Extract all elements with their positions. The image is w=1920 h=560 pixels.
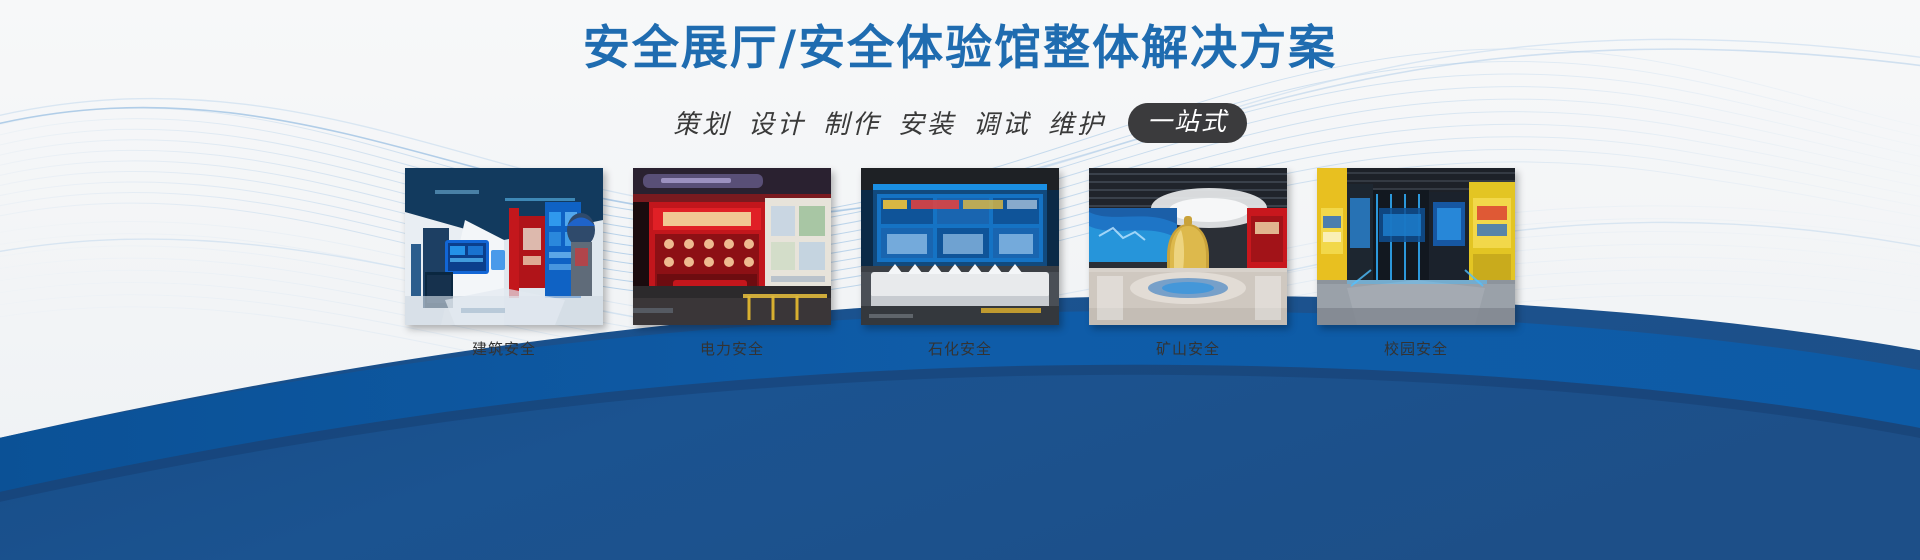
service-step-3: 制作 <box>823 104 881 141</box>
service-step-6: 维护 <box>1048 104 1106 141</box>
banner-title-area: 安全展厅/安全体验馆整体解决方案 <box>0 22 1920 76</box>
gallery-item-5[interactable]: 校园安全 <box>1317 168 1515 359</box>
thumbnail-construction-safety[interactable] <box>405 168 603 325</box>
service-step-1: 策划 <box>673 104 731 141</box>
service-step-5: 调试 <box>973 104 1031 141</box>
gallery-caption-3: 石化安全 <box>861 338 1059 359</box>
gallery-caption-2: 电力安全 <box>633 338 831 359</box>
promo-banner: 安全展厅/安全体验馆整体解决方案 策划 设计 制作 安装 调试 维护 一站式 <box>0 0 1920 560</box>
thumbnail-petrochemical-safety[interactable] <box>861 168 1059 325</box>
gallery-item-1[interactable]: 建筑安全 <box>405 168 603 359</box>
thumbnail-mine-safety[interactable] <box>1089 168 1287 325</box>
service-step-4: 安装 <box>898 104 956 141</box>
gallery-item-4[interactable]: 矿山安全 <box>1089 168 1287 359</box>
gallery-caption-5: 校园安全 <box>1317 338 1515 359</box>
service-step-2: 设计 <box>748 104 806 141</box>
page-title: 安全展厅/安全体验馆整体解决方案 <box>0 22 1920 76</box>
gallery-caption-4: 矿山安全 <box>1089 338 1287 359</box>
thumbnail-campus-safety[interactable] <box>1317 168 1515 325</box>
scene-gallery: 建筑安全 <box>0 168 1920 359</box>
gallery-item-3[interactable]: 石化安全 <box>861 168 1059 359</box>
thumbnail-electric-power-safety[interactable] <box>633 168 831 325</box>
service-steps-list: 策划 设计 制作 安装 调试 维护 一站式 <box>0 103 1920 143</box>
one-stop-badge: 一站式 <box>1128 103 1247 143</box>
gallery-caption-1: 建筑安全 <box>405 338 603 359</box>
gallery-item-2[interactable]: 电力安全 <box>633 168 831 359</box>
